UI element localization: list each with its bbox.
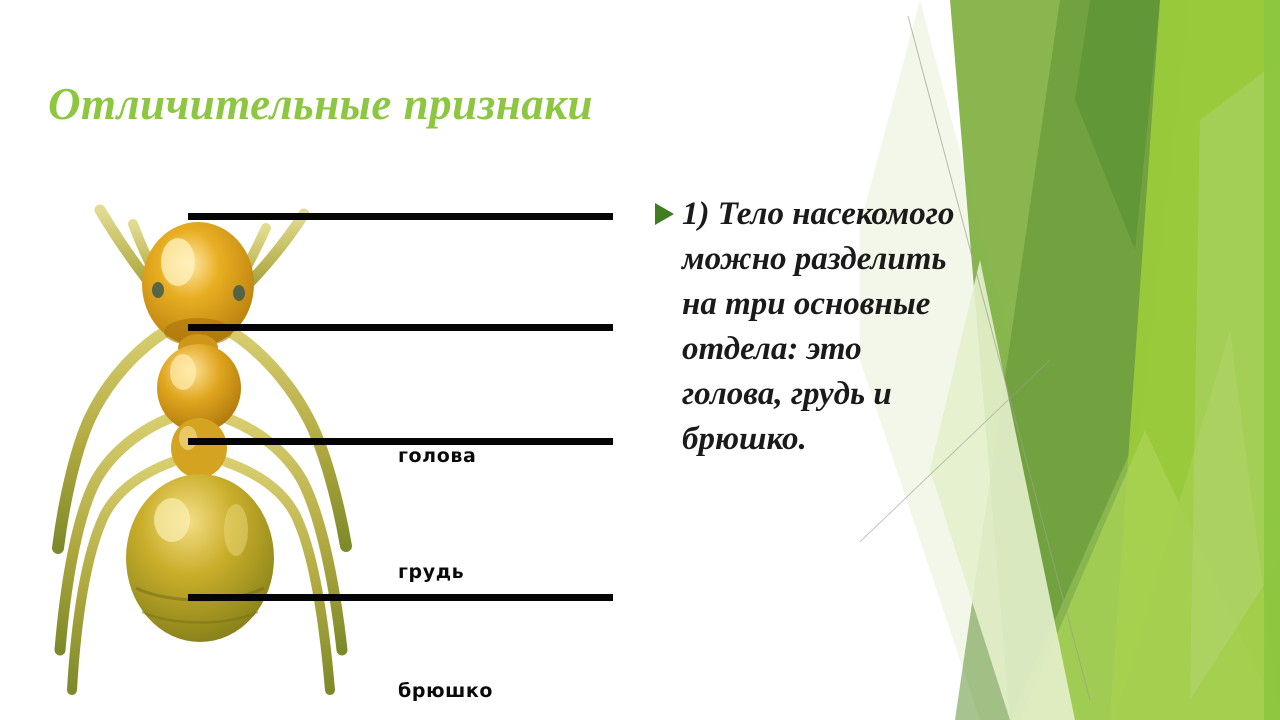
ant-thorax-highlight [170, 354, 196, 390]
bullet-text: 1) Тело насекомого можно разделить на тр… [652, 192, 964, 462]
facet-shape-mid-green [950, 0, 1280, 720]
facet-shape-dark-wedge [955, 0, 1190, 720]
facet-shape-lime-triangle [1115, 330, 1280, 720]
divider-line-top [188, 213, 613, 220]
facet-shape-bright-right [1110, 0, 1280, 720]
divider-line-bottom [188, 594, 613, 601]
anatomy-label-abdomen: брюшко [398, 680, 493, 702]
divider-line-thorax-abdomen [188, 438, 613, 445]
ant-anatomy-figure: голова грудь брюшко [20, 180, 640, 700]
ant-abdomen [126, 474, 274, 642]
ant-eye-left [152, 282, 164, 298]
content-bullet-block: 1) Тело насекомого можно разделить на тр… [652, 192, 964, 462]
ant-petiole [171, 418, 227, 478]
ant-abdomen-gloss [224, 504, 248, 556]
ant-head-highlight [161, 238, 195, 286]
ant-eye-right [233, 285, 245, 301]
anatomy-label-thorax: грудь [398, 561, 464, 583]
facet-shape-soft-overlay [1190, 60, 1280, 700]
facet-shape-deep-notch [1075, 0, 1160, 250]
slide-canvas: Отличительные признаки [0, 0, 1280, 720]
facet-shape-edge-strip [1264, 0, 1280, 720]
divider-line-head-thorax [188, 324, 613, 331]
facet-shape-light-triangle [1020, 430, 1280, 720]
page-title: Отличительные признаки [48, 78, 593, 130]
anatomy-label-head: голова [398, 445, 476, 467]
triangle-right-icon [655, 203, 674, 225]
ant-abdomen-highlight [154, 498, 190, 542]
